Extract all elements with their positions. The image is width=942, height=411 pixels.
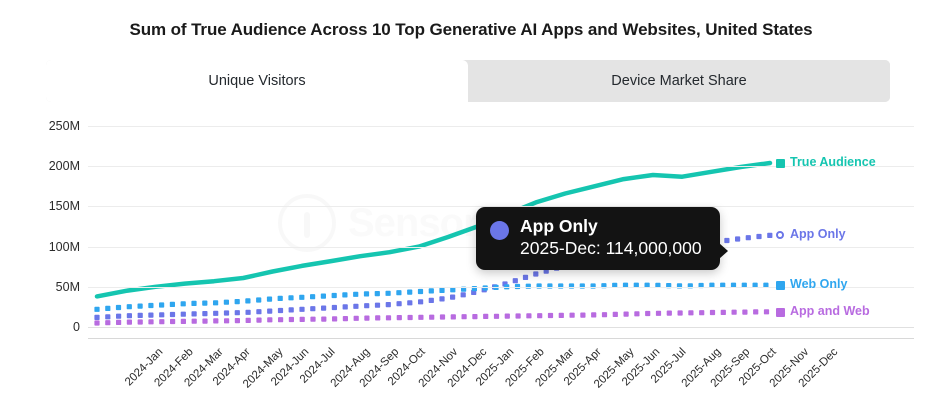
tab-bar: Unique Visitors Device Market Share: [46, 60, 890, 102]
series-label-web-only: Web Only: [790, 277, 847, 291]
series-label-app-only: App Only: [790, 227, 846, 241]
series-marker-true-audience: [776, 159, 785, 168]
tab-unique-visitors[interactable]: Unique Visitors: [46, 60, 468, 102]
series-marker-app-and-web: [776, 308, 785, 317]
tooltip-arrow: [719, 243, 728, 259]
tooltip-value: 2025-Dec: 114,000,000: [520, 237, 702, 259]
gridline: [88, 327, 914, 328]
tab-device-market-share-label: Device Market Share: [611, 73, 746, 89]
x-axis-line: [88, 338, 914, 339]
series-marker-web-only: [776, 281, 785, 290]
tooltip-series-name: App Only: [520, 216, 702, 237]
series-label-app-and-web: App and Web: [790, 304, 870, 318]
chart-tooltip: App Only 2025-Dec: 114,000,000: [476, 207, 720, 270]
x-axis: 2024-Jan2024-Feb2024-Mar2024-Apr2024-May…: [0, 338, 942, 411]
gridline: [88, 126, 914, 127]
tab-device-market-share[interactable]: Device Market Share: [468, 60, 890, 102]
plot-area: Sensor 050M100M150M200M250M True Audienc…: [0, 108, 942, 348]
tab-unique-visitors-label: Unique Visitors: [208, 73, 305, 89]
page-title: Sum of True Audience Across 10 Top Gener…: [0, 20, 942, 40]
series-label-true-audience: True Audience: [790, 155, 876, 169]
tooltip-series-dot: [490, 221, 509, 240]
chart-page: Sum of True Audience Across 10 Top Gener…: [0, 0, 942, 411]
